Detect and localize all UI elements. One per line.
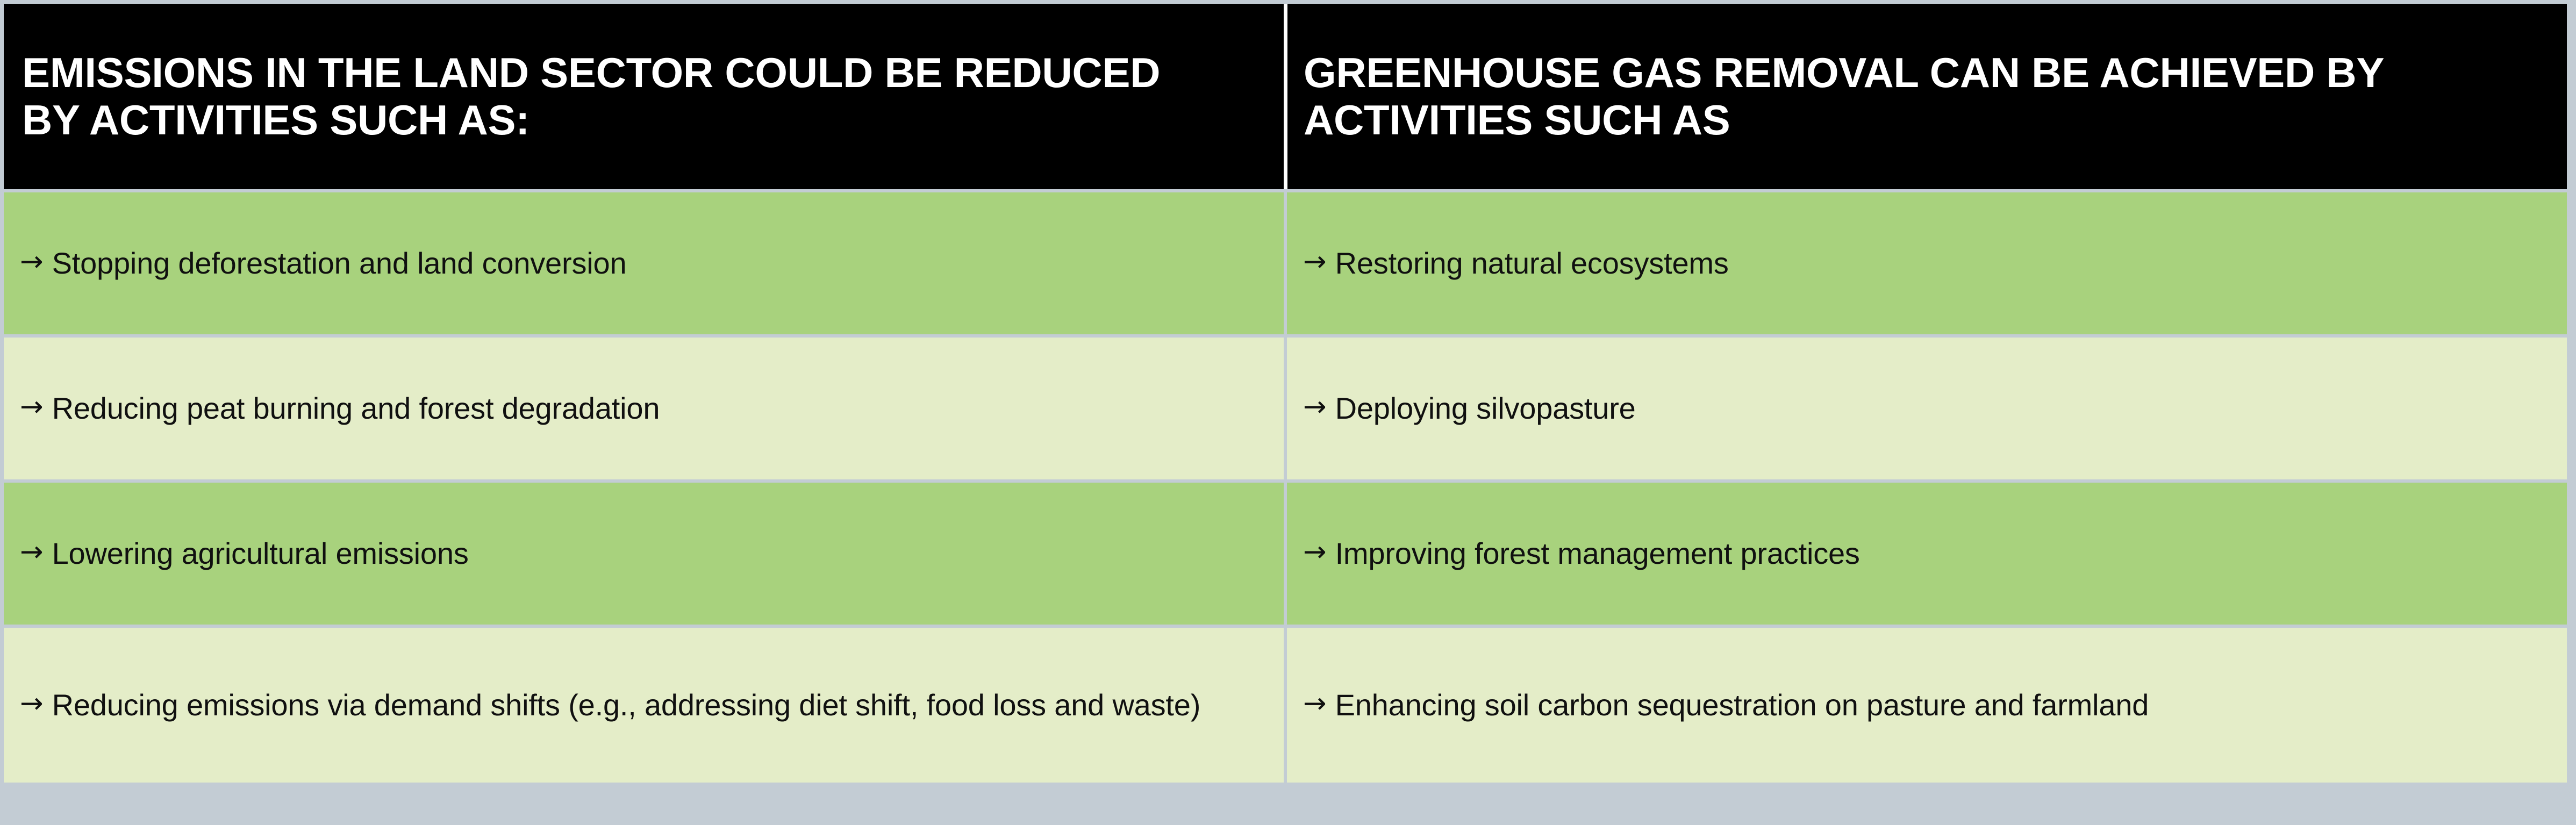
cell-right-row-3: → Improving forest management practices <box>1287 483 2567 625</box>
arrow-right-icon: → <box>1303 535 1327 570</box>
table-header-row: EMISSIONS IN THE LAND SECTOR COULD BE RE… <box>4 4 2567 189</box>
table-row: → Reducing peat burning and forest degra… <box>4 338 2567 479</box>
arrow-right-icon: → <box>20 390 44 425</box>
activities-comparison-table: EMISSIONS IN THE LAND SECTOR COULD BE RE… <box>4 4 2567 818</box>
header-cell-greenhouse-gas-removal: GREENHOUSE GAS REMOVAL CAN BE ACHIEVED B… <box>1285 4 2567 189</box>
cell-right-row-2: → Deploying silvopasture <box>1287 338 2567 479</box>
arrow-right-icon: → <box>20 245 44 280</box>
cell-left-row-3: → Lowering agricultural emissions <box>4 483 1284 625</box>
list-item-label: Restoring natural ecosystems <box>1335 245 1729 283</box>
list-item-label: Deploying silvopasture <box>1335 390 1636 428</box>
list-item-label: Lowering agricultural emissions <box>52 535 469 573</box>
list-item-label: Enhancing soil carbon sequestration on p… <box>1335 686 2149 724</box>
cell-left-row-4: → Reducing emissions via demand shifts (… <box>4 628 1284 783</box>
arrow-right-icon: → <box>1303 245 1327 280</box>
arrow-right-icon: → <box>1303 390 1327 425</box>
cell-left-row-2: → Reducing peat burning and forest degra… <box>4 338 1284 479</box>
cell-right-row-1: → Restoring natural ecosystems <box>1287 192 2567 334</box>
header-column-divider <box>1284 4 1287 189</box>
list-item-label: Reducing peat burning and forest degrada… <box>52 390 660 428</box>
column-header-title-left: EMISSIONS IN THE LAND SECTOR COULD BE RE… <box>22 49 1221 144</box>
table-row: → Lowering agricultural emissions → Impr… <box>4 483 2567 625</box>
arrow-right-icon: → <box>20 535 44 570</box>
table-row: → Stopping deforestation and land conver… <box>4 192 2567 334</box>
arrow-right-icon: → <box>20 686 44 722</box>
list-item-label: Reducing emissions via demand shifts (e.… <box>52 686 1201 724</box>
arrow-right-icon: → <box>1303 686 1327 722</box>
column-header-title-right: GREENHOUSE GAS REMOVAL CAN BE ACHIEVED B… <box>1304 49 2548 144</box>
cell-right-row-4: → Enhancing soil carbon sequestration on… <box>1287 628 2567 783</box>
list-item-label: Improving forest management practices <box>1335 535 1860 573</box>
header-cell-emissions-reduction: EMISSIONS IN THE LAND SECTOR COULD BE RE… <box>4 4 1285 189</box>
list-item-label: Stopping deforestation and land conversi… <box>52 245 627 283</box>
table-row: → Reducing emissions via demand shifts (… <box>4 628 2567 783</box>
cell-left-row-1: → Stopping deforestation and land conver… <box>4 192 1284 334</box>
